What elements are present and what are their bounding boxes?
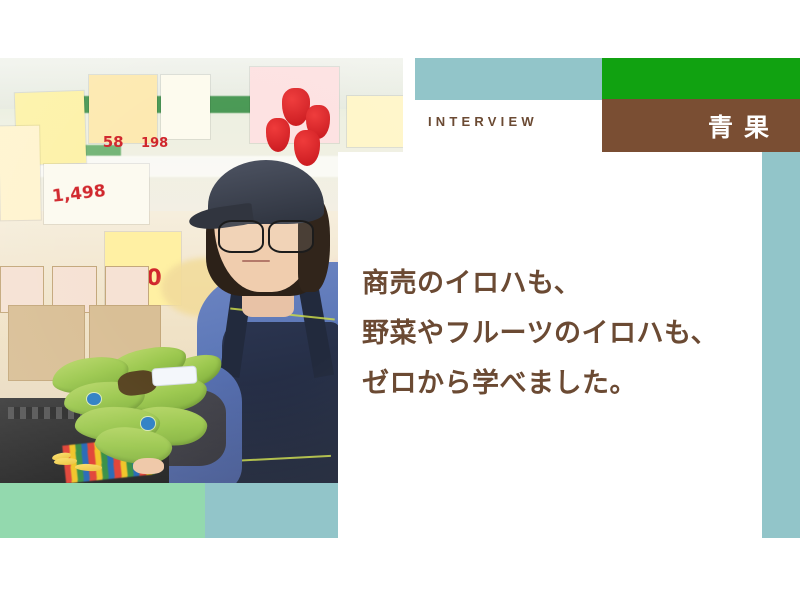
price-text: 58 bbox=[103, 135, 124, 150]
yellow-banana bbox=[54, 458, 77, 465]
fruit-sticker bbox=[141, 417, 155, 429]
teal-accent-band-top bbox=[415, 58, 602, 100]
fruit-sticker bbox=[87, 393, 101, 405]
promo-sign bbox=[161, 75, 209, 139]
slide-canvas: 58 198 1,498 350 bbox=[0, 0, 800, 600]
category-tag-label: 青果 bbox=[602, 99, 784, 152]
price-text: 198 bbox=[141, 137, 168, 150]
photo-scene: 58 198 1,498 350 bbox=[0, 58, 403, 483]
green-accent-block bbox=[602, 58, 800, 99]
promo-sign bbox=[0, 126, 41, 220]
promo-sign bbox=[339, 198, 403, 266]
promo-sign bbox=[347, 96, 403, 147]
teal-accent-block-bottom bbox=[205, 483, 338, 538]
banana-bunch bbox=[48, 339, 241, 475]
section-kicker: INTERVIEW bbox=[428, 114, 538, 129]
interview-photo: 58 198 1,498 350 bbox=[0, 58, 403, 483]
lens-left bbox=[218, 220, 265, 254]
person-hand bbox=[133, 458, 164, 474]
person-mouth bbox=[242, 260, 270, 262]
quote-line-1: 商売のイロハも、 bbox=[362, 258, 762, 308]
price-text: 1,498 bbox=[52, 183, 107, 206]
lens-right bbox=[268, 220, 315, 254]
quote-line-3: ゼロから学べました。 bbox=[362, 358, 762, 408]
eyeglasses bbox=[218, 220, 315, 250]
quote-line-2: 野菜やフルーツのイロハも、 bbox=[362, 308, 762, 358]
yellow-banana bbox=[75, 463, 102, 472]
mint-accent-block-bottom bbox=[0, 483, 205, 538]
teal-accent-bar-right bbox=[762, 152, 800, 538]
pull-quote: 商売のイロハも、 野菜やフルーツのイロハも、 ゼロから学べました。 bbox=[362, 258, 762, 409]
